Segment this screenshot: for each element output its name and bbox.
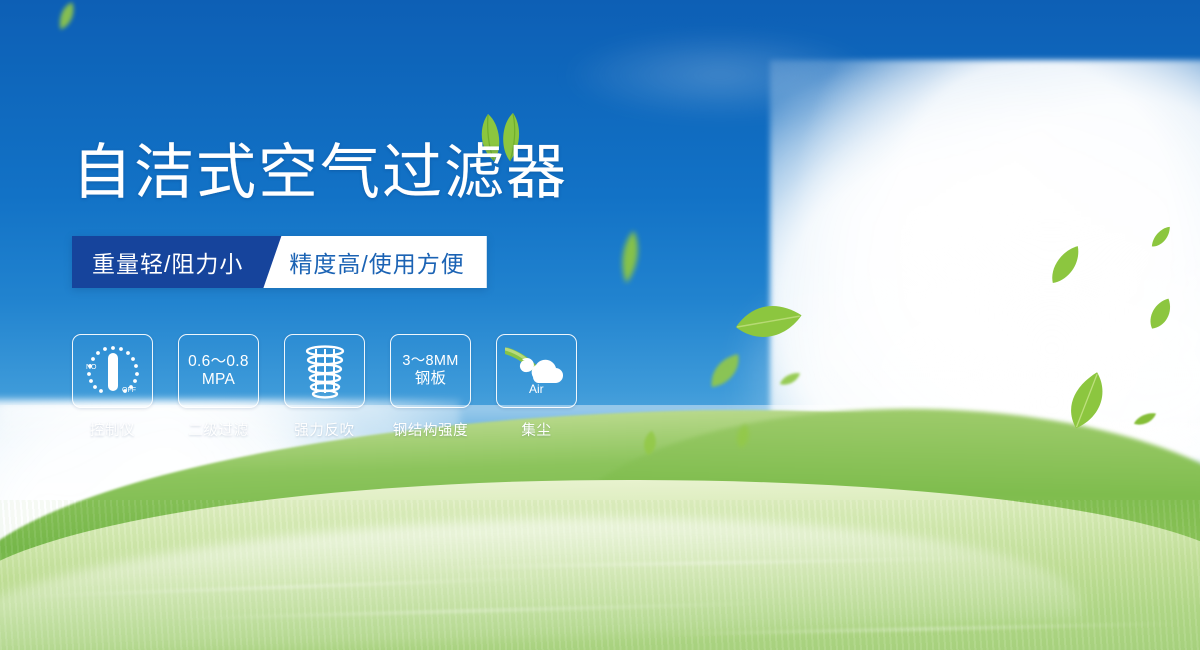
feature-label: 二级过滤	[188, 419, 248, 440]
air-cloud-icon: Air	[505, 347, 569, 395]
feature-text-line: 钢板	[415, 370, 447, 388]
feature-text-line: 3～8MM	[402, 353, 458, 370]
feature-box	[284, 334, 365, 408]
banner-content: 自洁式空气过滤器 重量轻/阻力小 精度高/使用方便	[0, 0, 1200, 650]
feature-label: 集尘	[521, 419, 551, 440]
feature-item-control[interactable]: NO OFF 控制仪	[72, 334, 153, 440]
feature-box: 0.6～0.8 MPA	[178, 334, 259, 408]
control-dial-icon: NO OFF	[82, 342, 144, 400]
coil-filter-icon	[299, 343, 351, 399]
feature-box: Air	[496, 334, 577, 408]
hero-banner: 自洁式空气过滤器 重量轻/阻力小 精度高/使用方便	[0, 0, 1200, 650]
subtitle-left-text: 重量轻/阻力小	[72, 236, 283, 288]
subtitle-banner: 重量轻/阻力小 精度高/使用方便	[72, 236, 487, 288]
feature-item-pressure[interactable]: 0.6～0.8 MPA 二级过滤	[178, 334, 259, 440]
feature-label: 强力反吹	[294, 419, 354, 440]
feature-label: 控制仪	[90, 419, 135, 440]
feature-text-line: 0.6～0.8	[188, 353, 249, 371]
feature-label: 钢结构强度	[393, 419, 469, 440]
page-title: 自洁式空气过滤器	[72, 143, 568, 203]
subtitle-right-text: 精度高/使用方便	[263, 236, 486, 288]
feature-list: NO OFF 控制仪 0.6～0.8 MPA 二级过滤	[72, 334, 577, 440]
dial-on-label: NO	[86, 364, 97, 371]
air-label: Air	[529, 382, 544, 395]
feature-box: 3～8MM 钢板	[390, 334, 471, 408]
feature-item-steel[interactable]: 3～8MM 钢板 钢结构强度	[390, 334, 471, 440]
feature-box: NO OFF	[72, 334, 153, 408]
feature-text-line: MPA	[202, 371, 235, 389]
feature-item-dustcollect[interactable]: Air 集尘	[496, 334, 577, 440]
feature-item-blowback[interactable]: 强力反吹	[284, 334, 365, 440]
dial-off-label: OFF	[122, 387, 136, 394]
